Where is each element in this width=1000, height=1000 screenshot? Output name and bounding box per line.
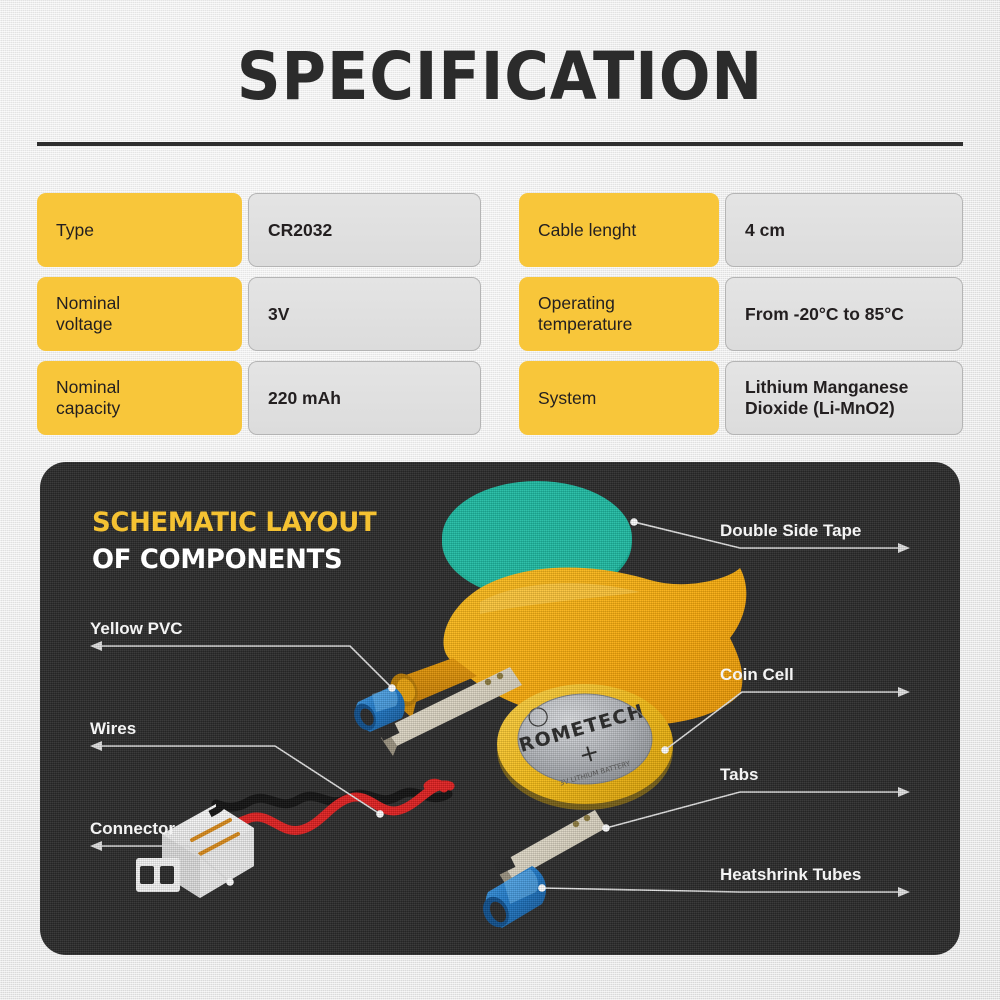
spec-value-text: 3V xyxy=(268,304,289,325)
spec-value-nominal-voltage: 3V xyxy=(248,277,481,351)
title-block: SPECIFICATION xyxy=(0,44,1000,110)
spec-column-right: Cable lenght 4 cm Operating temperature … xyxy=(519,193,963,435)
callout-label-double-side-tape: Double Side Tape xyxy=(720,521,861,541)
callout-label-wires: Wires xyxy=(90,719,136,739)
spec-label-system: System xyxy=(519,361,719,435)
spec-label-line2: capacity xyxy=(56,398,120,418)
spec-value-text: Lithium Manganese Dioxide (Li-MnO2) xyxy=(745,377,908,419)
spec-label-line1: Nominal xyxy=(56,293,120,313)
spec-value-line2: Dioxide (Li-MnO2) xyxy=(745,398,895,418)
schematic-heading: SCHEMATIC LAYOUT OF COMPONENTS xyxy=(92,507,388,575)
spec-column-left: Type CR2032 Nominal voltage 3V Nominal xyxy=(37,193,481,435)
specification-table: Type CR2032 Nominal voltage 3V Nominal xyxy=(37,193,963,435)
spec-label-line1: Operating xyxy=(538,293,615,313)
spec-label-text: System xyxy=(538,388,596,409)
page-title: SPECIFICATION xyxy=(40,44,960,110)
spec-label-text: Operating temperature xyxy=(538,293,632,335)
spec-label-line2: temperature xyxy=(538,314,632,334)
spec-label-cable-lenght: Cable lenght xyxy=(519,193,719,267)
spec-value-text: 220 mAh xyxy=(268,388,341,409)
table-row: System Lithium Manganese Dioxide (Li-MnO… xyxy=(519,361,963,435)
spec-value-operating-temperature: From -20°C to 85°C xyxy=(725,277,963,351)
callout-label-coin-cell: Coin Cell xyxy=(720,665,794,685)
schematic-panel: ROMETECH + 3V LITHIUM BATTERY xyxy=(40,462,960,955)
schematic-heading-line1: SCHEMATIC LAYOUT xyxy=(92,507,376,538)
spec-value-text: CR2032 xyxy=(268,220,332,241)
callout-label-tabs: Tabs xyxy=(720,765,758,785)
spec-value-nominal-capacity: 220 mAh xyxy=(248,361,481,435)
spec-label-nominal-voltage: Nominal voltage xyxy=(37,277,242,351)
spec-value-system: Lithium Manganese Dioxide (Li-MnO2) xyxy=(725,361,963,435)
spec-label-operating-temperature: Operating temperature xyxy=(519,277,719,351)
spec-label-text: Type xyxy=(56,220,94,241)
spec-value-type: CR2032 xyxy=(248,193,481,267)
spec-value-text: 4 cm xyxy=(745,220,785,241)
callout-label-connector: Connector xyxy=(90,819,175,839)
spec-label-line2: voltage xyxy=(56,314,112,334)
table-row: Cable lenght 4 cm xyxy=(519,193,963,267)
spec-value-text: From -20°C to 85°C xyxy=(745,304,904,325)
table-row: Nominal voltage 3V xyxy=(37,277,481,351)
callout-label-yellow-pvc: Yellow PVC xyxy=(90,619,183,639)
schematic-heading-line2: OF COMPONENTS xyxy=(92,544,376,575)
title-divider xyxy=(37,142,963,146)
spec-label-text: Nominal voltage xyxy=(56,293,120,335)
table-row: Type CR2032 xyxy=(37,193,481,267)
spec-value-line1: Lithium Manganese xyxy=(745,377,908,397)
spec-value-cable-lenght: 4 cm xyxy=(725,193,963,267)
spec-label-line1: Nominal xyxy=(56,377,120,397)
table-row: Operating temperature From -20°C to 85°C xyxy=(519,277,963,351)
callout-label-heatshrink-tubes: Heatshrink Tubes xyxy=(720,865,861,885)
table-row: Nominal capacity 220 mAh xyxy=(37,361,481,435)
spec-label-nominal-capacity: Nominal capacity xyxy=(37,361,242,435)
spec-label-type: Type xyxy=(37,193,242,267)
spec-label-text: Nominal capacity xyxy=(56,377,120,419)
spec-label-text: Cable lenght xyxy=(538,220,636,241)
